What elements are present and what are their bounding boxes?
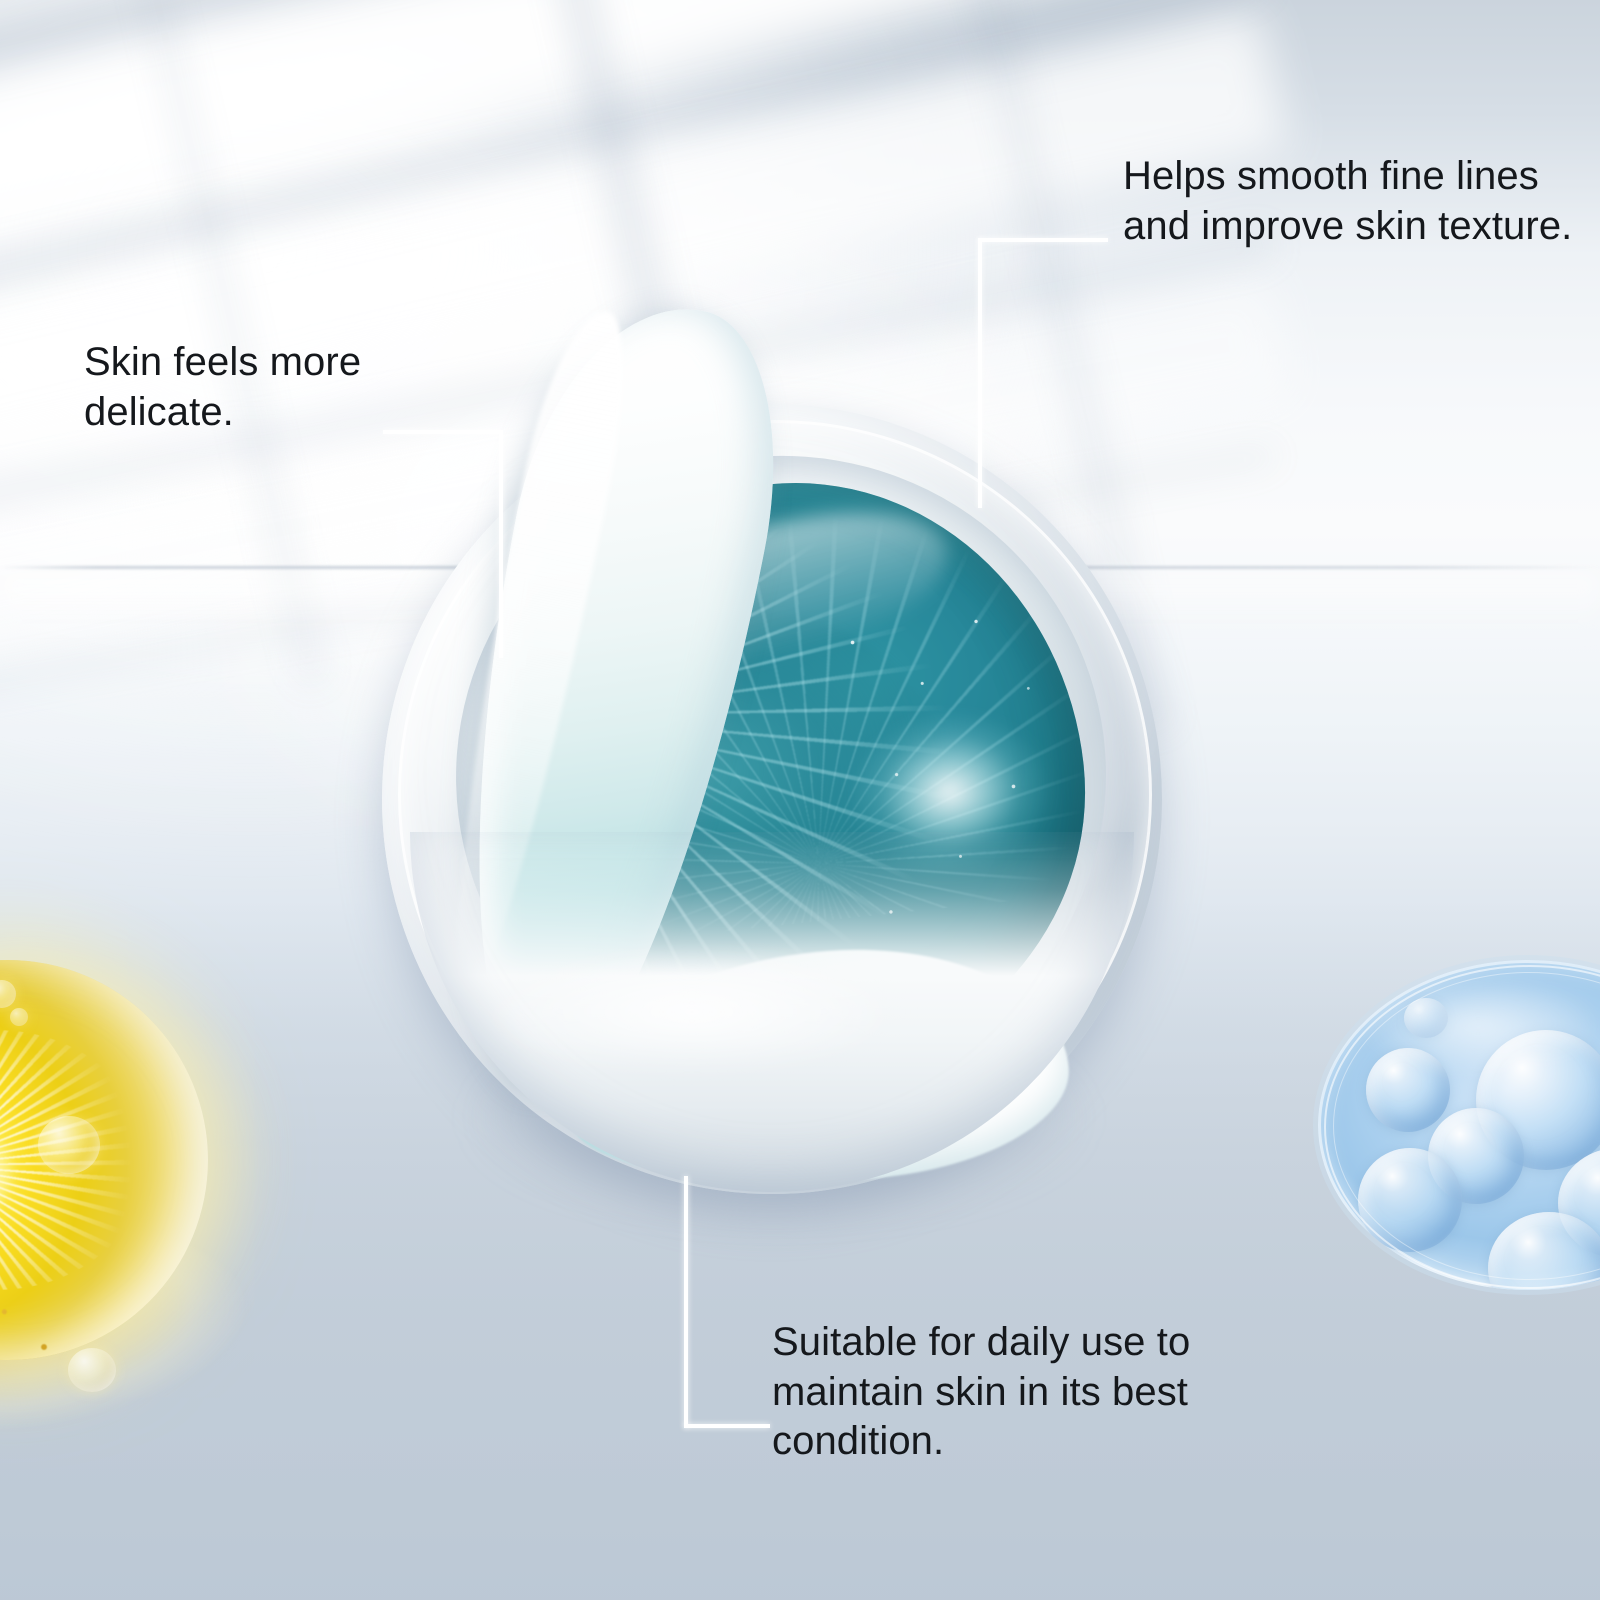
gold-bubble — [10, 1008, 28, 1026]
blue-bubble-petri-dish — [1318, 960, 1600, 1290]
callout-smooth-fine-lines: Helps smooth fine lines and improve skin… — [1123, 152, 1593, 251]
callout-daily-use: Suitable for daily use to maintain skin … — [772, 1318, 1332, 1467]
gold-bubble — [68, 1348, 116, 1392]
leader-line-fine-lines-vertical — [978, 238, 982, 508]
product-jar — [372, 392, 1172, 1204]
leader-line-fine-lines-horizontal — [978, 238, 1108, 242]
jar-base-highlight — [482, 952, 902, 1072]
leader-line-daily-use-vertical — [684, 1176, 688, 1428]
golden-serum-droplet — [0, 880, 390, 1440]
callout-skin-delicate: Skin feels more delicate. — [84, 338, 504, 437]
leader-line-daily-use-horizontal — [684, 1424, 770, 1428]
gold-bubble — [38, 1116, 100, 1174]
leader-line-skin-delicate-vertical — [499, 430, 503, 658]
infographic-canvas: Skin feels more delicate. Helps smooth f… — [0, 0, 1600, 1600]
